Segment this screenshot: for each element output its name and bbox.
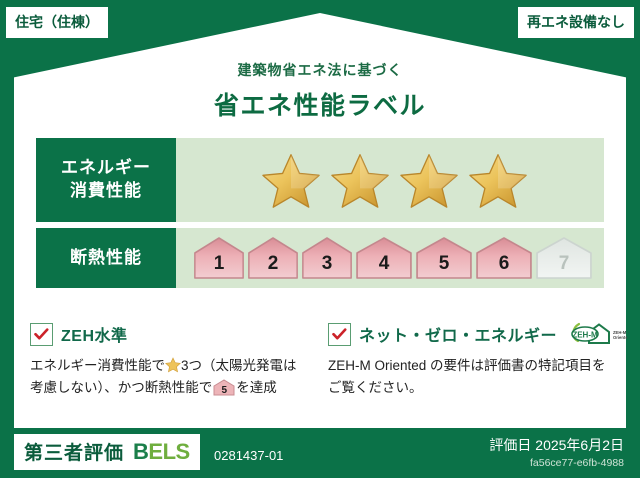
insulation-step-badge: 2 bbox=[247, 236, 299, 280]
page-title: 省エネ性能ラベル bbox=[0, 86, 640, 122]
note-zeh-star-count: 3つ bbox=[181, 358, 202, 373]
bels-logo-els: ELS bbox=[148, 439, 189, 464]
row-insulation-label-line1: 断熱性能 bbox=[70, 247, 142, 270]
inline-step-number: 5 bbox=[213, 386, 235, 396]
evaluation-id: fa56ce77-e6fb-4988 bbox=[489, 457, 624, 469]
row-insulation-performance: 断熱性能 1234567 bbox=[36, 228, 604, 288]
rating-rows: エネルギー 消費性能 断熱性能 1234567 bbox=[36, 138, 604, 288]
step-number: 7 bbox=[535, 253, 593, 275]
evaluation-date: 評価日 2025年6月2日 bbox=[489, 436, 624, 454]
check-icon bbox=[328, 323, 351, 346]
step-number: 5 bbox=[415, 253, 473, 275]
row-energy-performance: エネルギー 消費性能 bbox=[36, 138, 604, 222]
star-icon bbox=[261, 151, 321, 209]
label-footer: 第三者評価 BELS 0281437-01 評価日 2025年6月2日 fa56… bbox=[0, 428, 640, 478]
zeh-m-oriented-logo-icon: ZEH-M ZEH-M Oriented bbox=[569, 321, 627, 347]
step-number: 3 bbox=[301, 253, 353, 275]
note-nzeb-title: ネット・ゼロ・エネルギー bbox=[359, 322, 557, 346]
note-zeh-title: ZEH水準 bbox=[61, 322, 128, 346]
badge-building-type: 住宅（住棟） bbox=[6, 7, 108, 38]
bels-registration-number: 0281437-01 bbox=[214, 448, 283, 463]
note-zeh-header: ZEH水準 bbox=[30, 322, 306, 346]
insulation-step-badge: 4 bbox=[355, 236, 413, 280]
row-insulation-body: 1234567 bbox=[176, 228, 604, 288]
evaluation-date-label: 評価日 bbox=[489, 437, 531, 453]
row-energy-label: エネルギー 消費性能 bbox=[36, 138, 176, 222]
svg-text:Oriented: Oriented bbox=[613, 335, 627, 340]
row-insulation-label: 断熱性能 bbox=[36, 228, 176, 288]
label-title-block: 建築物省エネ法に基づく 省エネ性能ラベル bbox=[0, 60, 640, 122]
svg-text:ZEH-M: ZEH-M bbox=[572, 330, 598, 339]
insulation-step-badge: 3 bbox=[301, 236, 353, 280]
inline-step-badge: 5 bbox=[213, 379, 235, 396]
evaluation-date-value: 2025年6月2日 bbox=[535, 437, 624, 453]
bels-logo-b: B bbox=[133, 439, 148, 464]
star-rating bbox=[261, 151, 528, 209]
footer-right-block: 評価日 2025年6月2日 fa56ce77-e6fb-4988 bbox=[489, 436, 624, 469]
bels-plate: 第三者評価 BELS bbox=[14, 434, 200, 470]
note-zeh: ZEH水準 エネルギー消費性能で 3つ（太陽光発電は考慮しない）、かつ断熱性能で… bbox=[30, 322, 306, 400]
note-zeh-body: エネルギー消費性能で 3つ（太陽光発電は考慮しない）、かつ断熱性能で 5を達成 bbox=[30, 355, 306, 400]
third-party-eval-label: 第三者評価 bbox=[24, 438, 124, 465]
check-icon bbox=[30, 323, 53, 346]
step-number: 6 bbox=[475, 253, 533, 275]
note-net-zero-energy: ネット・ゼロ・エネルギー ZEH-M ZEH-M Oriented ZEH-M … bbox=[328, 322, 614, 400]
insulation-step-badge: 6 bbox=[475, 236, 533, 280]
row-energy-label-line2: 消費性能 bbox=[70, 180, 142, 203]
step-number: 1 bbox=[193, 253, 245, 275]
inline-star-icon bbox=[165, 357, 181, 373]
step-number: 4 bbox=[355, 253, 413, 275]
title-subtitle: 建築物省エネ法に基づく bbox=[0, 60, 640, 80]
insulation-step-badge: 5 bbox=[415, 236, 473, 280]
star-icon bbox=[399, 151, 459, 209]
row-energy-body bbox=[176, 138, 604, 222]
note-zeh-text-1: エネルギー消費性能で bbox=[30, 358, 165, 373]
insulation-step-badge: 1 bbox=[193, 236, 245, 280]
bels-logo: BELS bbox=[133, 439, 190, 465]
note-zeh-text-3: を達成 bbox=[236, 380, 277, 395]
insulation-step-badge: 7 bbox=[535, 236, 593, 280]
note-nzeb-body: ZEH-M Oriented の要件は評価書の特記項目をご覧ください。 bbox=[328, 355, 614, 400]
badge-renewable-equipment: 再エネ設備なし bbox=[518, 7, 634, 38]
note-nzeb-header: ネット・ゼロ・エネルギー ZEH-M ZEH-M Oriented bbox=[328, 322, 614, 346]
star-icon bbox=[330, 151, 390, 209]
energy-label-root: 住宅（住棟） 再エネ設備なし 建築物省エネ法に基づく 省エネ性能ラベル エネルギ… bbox=[0, 0, 640, 478]
notes-section: ZEH水準 エネルギー消費性能で 3つ（太陽光発電は考慮しない）、かつ断熱性能で… bbox=[30, 322, 614, 400]
row-energy-label-line1: エネルギー bbox=[61, 157, 151, 180]
star-icon bbox=[468, 151, 528, 209]
insulation-step-scale: 1234567 bbox=[193, 236, 593, 280]
step-number: 2 bbox=[247, 253, 299, 275]
